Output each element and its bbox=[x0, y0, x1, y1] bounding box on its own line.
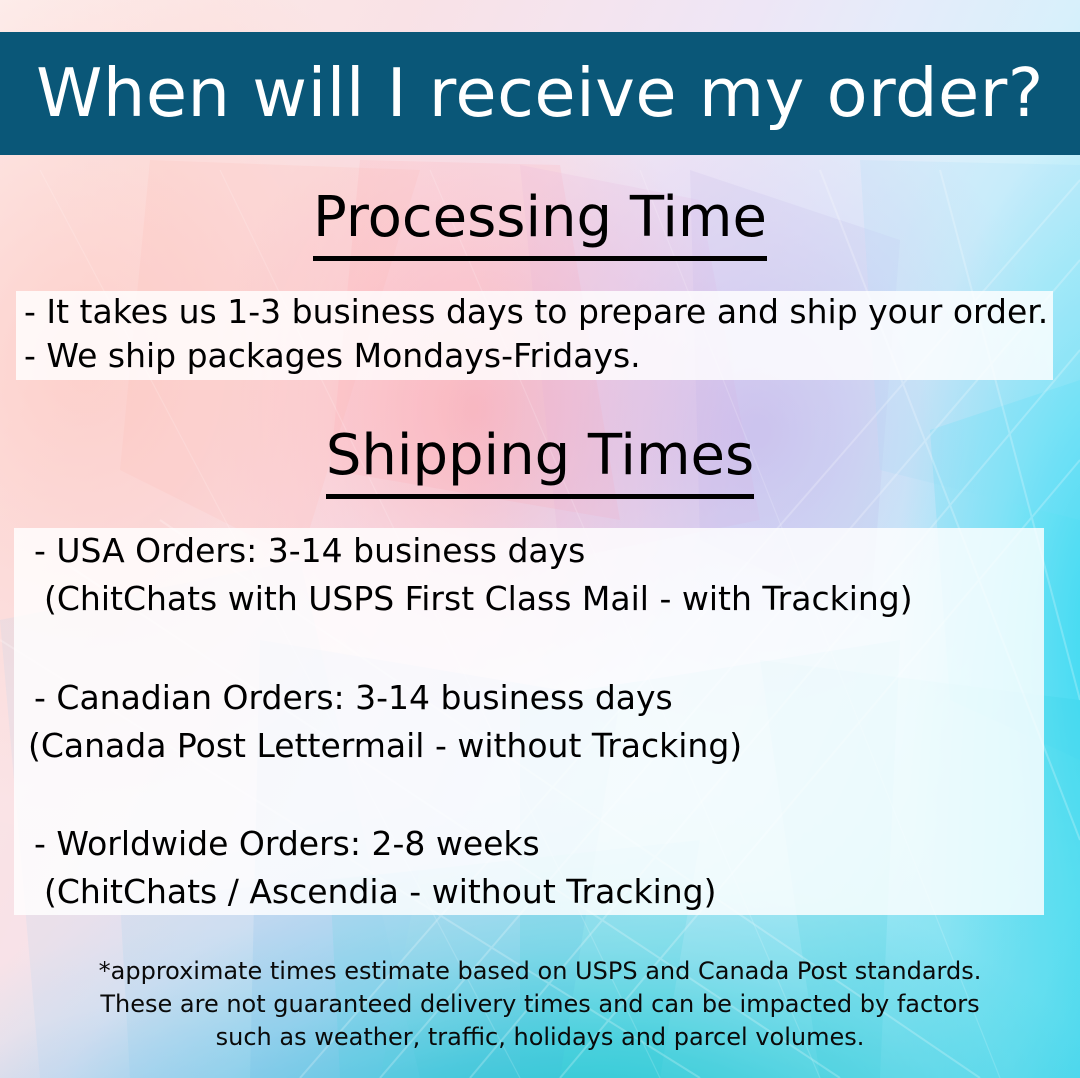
shipping-entry-canada-region: - Canadian Orders: 3-14 business days bbox=[34, 681, 673, 714]
processing-line-2: - We ship packages Mondays-Fridays. bbox=[24, 339, 641, 372]
shipping-entry-worldwide-region: - Worldwide Orders: 2-8 weeks bbox=[34, 827, 540, 860]
shipping-times-heading: Shipping Times bbox=[0, 428, 1080, 484]
page-title: When will I receive my order? bbox=[36, 60, 1044, 127]
shipping-times-heading-text: Shipping Times bbox=[326, 423, 754, 499]
processing-line-1: - It takes us 1-3 business days to prepa… bbox=[24, 295, 1048, 328]
processing-time-heading-text: Processing Time bbox=[313, 185, 767, 261]
shipping-info-poster: When will I receive my order? Processing… bbox=[0, 0, 1080, 1078]
disclaimer-line-1: *approximate times estimate based on USP… bbox=[0, 955, 1080, 988]
disclaimer-line-3: such as weather, traffic, holidays and p… bbox=[0, 1021, 1080, 1054]
disclaimer-footer: *approximate times estimate based on USP… bbox=[0, 955, 1080, 1054]
shipping-entry-worldwide-carrier: (ChitChats / Ascendia - without Tracking… bbox=[44, 875, 717, 908]
shipping-entry-canada-carrier: (Canada Post Lettermail - without Tracki… bbox=[28, 729, 742, 762]
processing-time-heading: Processing Time bbox=[0, 190, 1080, 246]
shipping-entry-usa-carrier: (ChitChats with USPS First Class Mail - … bbox=[44, 582, 913, 615]
shipping-entry-usa-region: - USA Orders: 3-14 business days bbox=[34, 534, 585, 567]
disclaimer-line-2: These are not guaranteed delivery times … bbox=[0, 988, 1080, 1021]
header-banner: When will I receive my order? bbox=[0, 32, 1080, 155]
